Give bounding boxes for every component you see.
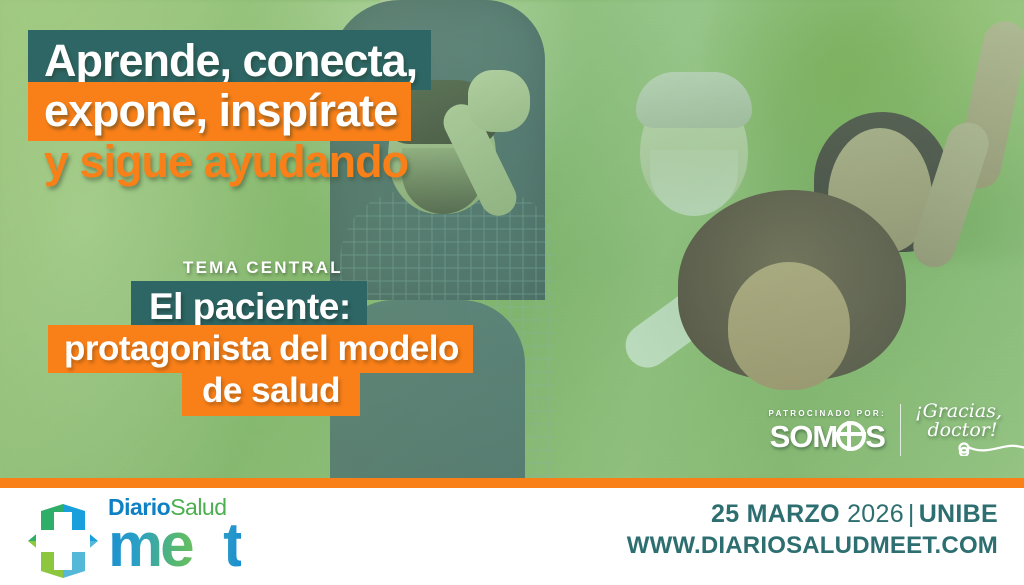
sponsored-by-label: PATROCINADO POR: xyxy=(769,409,886,418)
somos-logo: SOM S xyxy=(770,421,885,452)
central-theme: TEMA CENTRAL El paciente: protagonista d… xyxy=(0,258,560,416)
somos-logo-text-left: SOM xyxy=(770,421,838,452)
central-theme-kicker: TEMA CENTRAL xyxy=(183,258,343,278)
globe-icon xyxy=(836,421,866,451)
gracias-doctor-logo: ¡Gracias, doctor! xyxy=(915,402,1002,458)
meet-wordmark: meet xyxy=(108,521,241,572)
sponsor-area: PATROCINADO POR: SOM S ¡Gracias, doctor! xyxy=(769,402,1002,458)
logo-wordmark: DiarioSalud meet xyxy=(108,496,241,572)
headline-line-3: y sigue ayudando xyxy=(28,135,422,188)
meet-part-2: t xyxy=(223,511,241,580)
central-theme-line-3: de salud xyxy=(182,367,360,416)
orange-divider-bar xyxy=(0,478,1024,488)
meet-reversed-e: e xyxy=(192,521,223,572)
somos-logo-text-right: S xyxy=(865,421,885,452)
central-theme-row-1: El paciente: xyxy=(0,278,560,332)
event-date-year: 2026 xyxy=(847,500,904,528)
headline-row-3: y sigue ayudando xyxy=(0,141,560,188)
central-theme-line-2: protagonista del modelo xyxy=(48,325,473,373)
event-venue: UNIBE xyxy=(919,500,998,528)
headline: Aprende, conecta, expone, inspírate y si… xyxy=(0,30,560,188)
medical-cross-icon xyxy=(24,500,102,582)
diariosalud-meet-logo[interactable]: DiarioSalud meet xyxy=(24,494,241,582)
somos-sponsor: PATROCINADO POR: SOM S xyxy=(769,409,886,452)
event-date-day: 25 MARZO xyxy=(711,500,840,528)
event-promo-banner: Aprende, conecta, expone, inspírate y si… xyxy=(0,0,1024,585)
central-theme-kicker-row: TEMA CENTRAL xyxy=(0,258,560,278)
headline-row-2: expone, inspírate xyxy=(0,90,560,141)
headline-line-1: Aprende, conecta, xyxy=(28,30,431,90)
hero-photo: Aprende, conecta, expone, inspírate y si… xyxy=(0,0,1024,478)
footer: DiarioSalud meet 25 MARZO 2026|UNIBE WWW… xyxy=(0,488,1024,585)
event-details: 25 MARZO 2026|UNIBE WWW.DIARIOSALUDMEET.… xyxy=(627,500,998,560)
headline-line-2: expone, inspírate xyxy=(28,82,411,141)
date-venue-separator: | xyxy=(904,500,919,528)
sponsor-divider xyxy=(900,404,901,456)
event-website-url[interactable]: WWW.DIARIOSALUDMEET.COM xyxy=(627,532,998,560)
headline-row-1: Aprende, conecta, xyxy=(0,30,560,90)
meet-part-1: me xyxy=(108,511,192,580)
event-date-venue: 25 MARZO 2026|UNIBE xyxy=(627,500,998,529)
central-theme-row-3: de salud xyxy=(0,373,560,416)
